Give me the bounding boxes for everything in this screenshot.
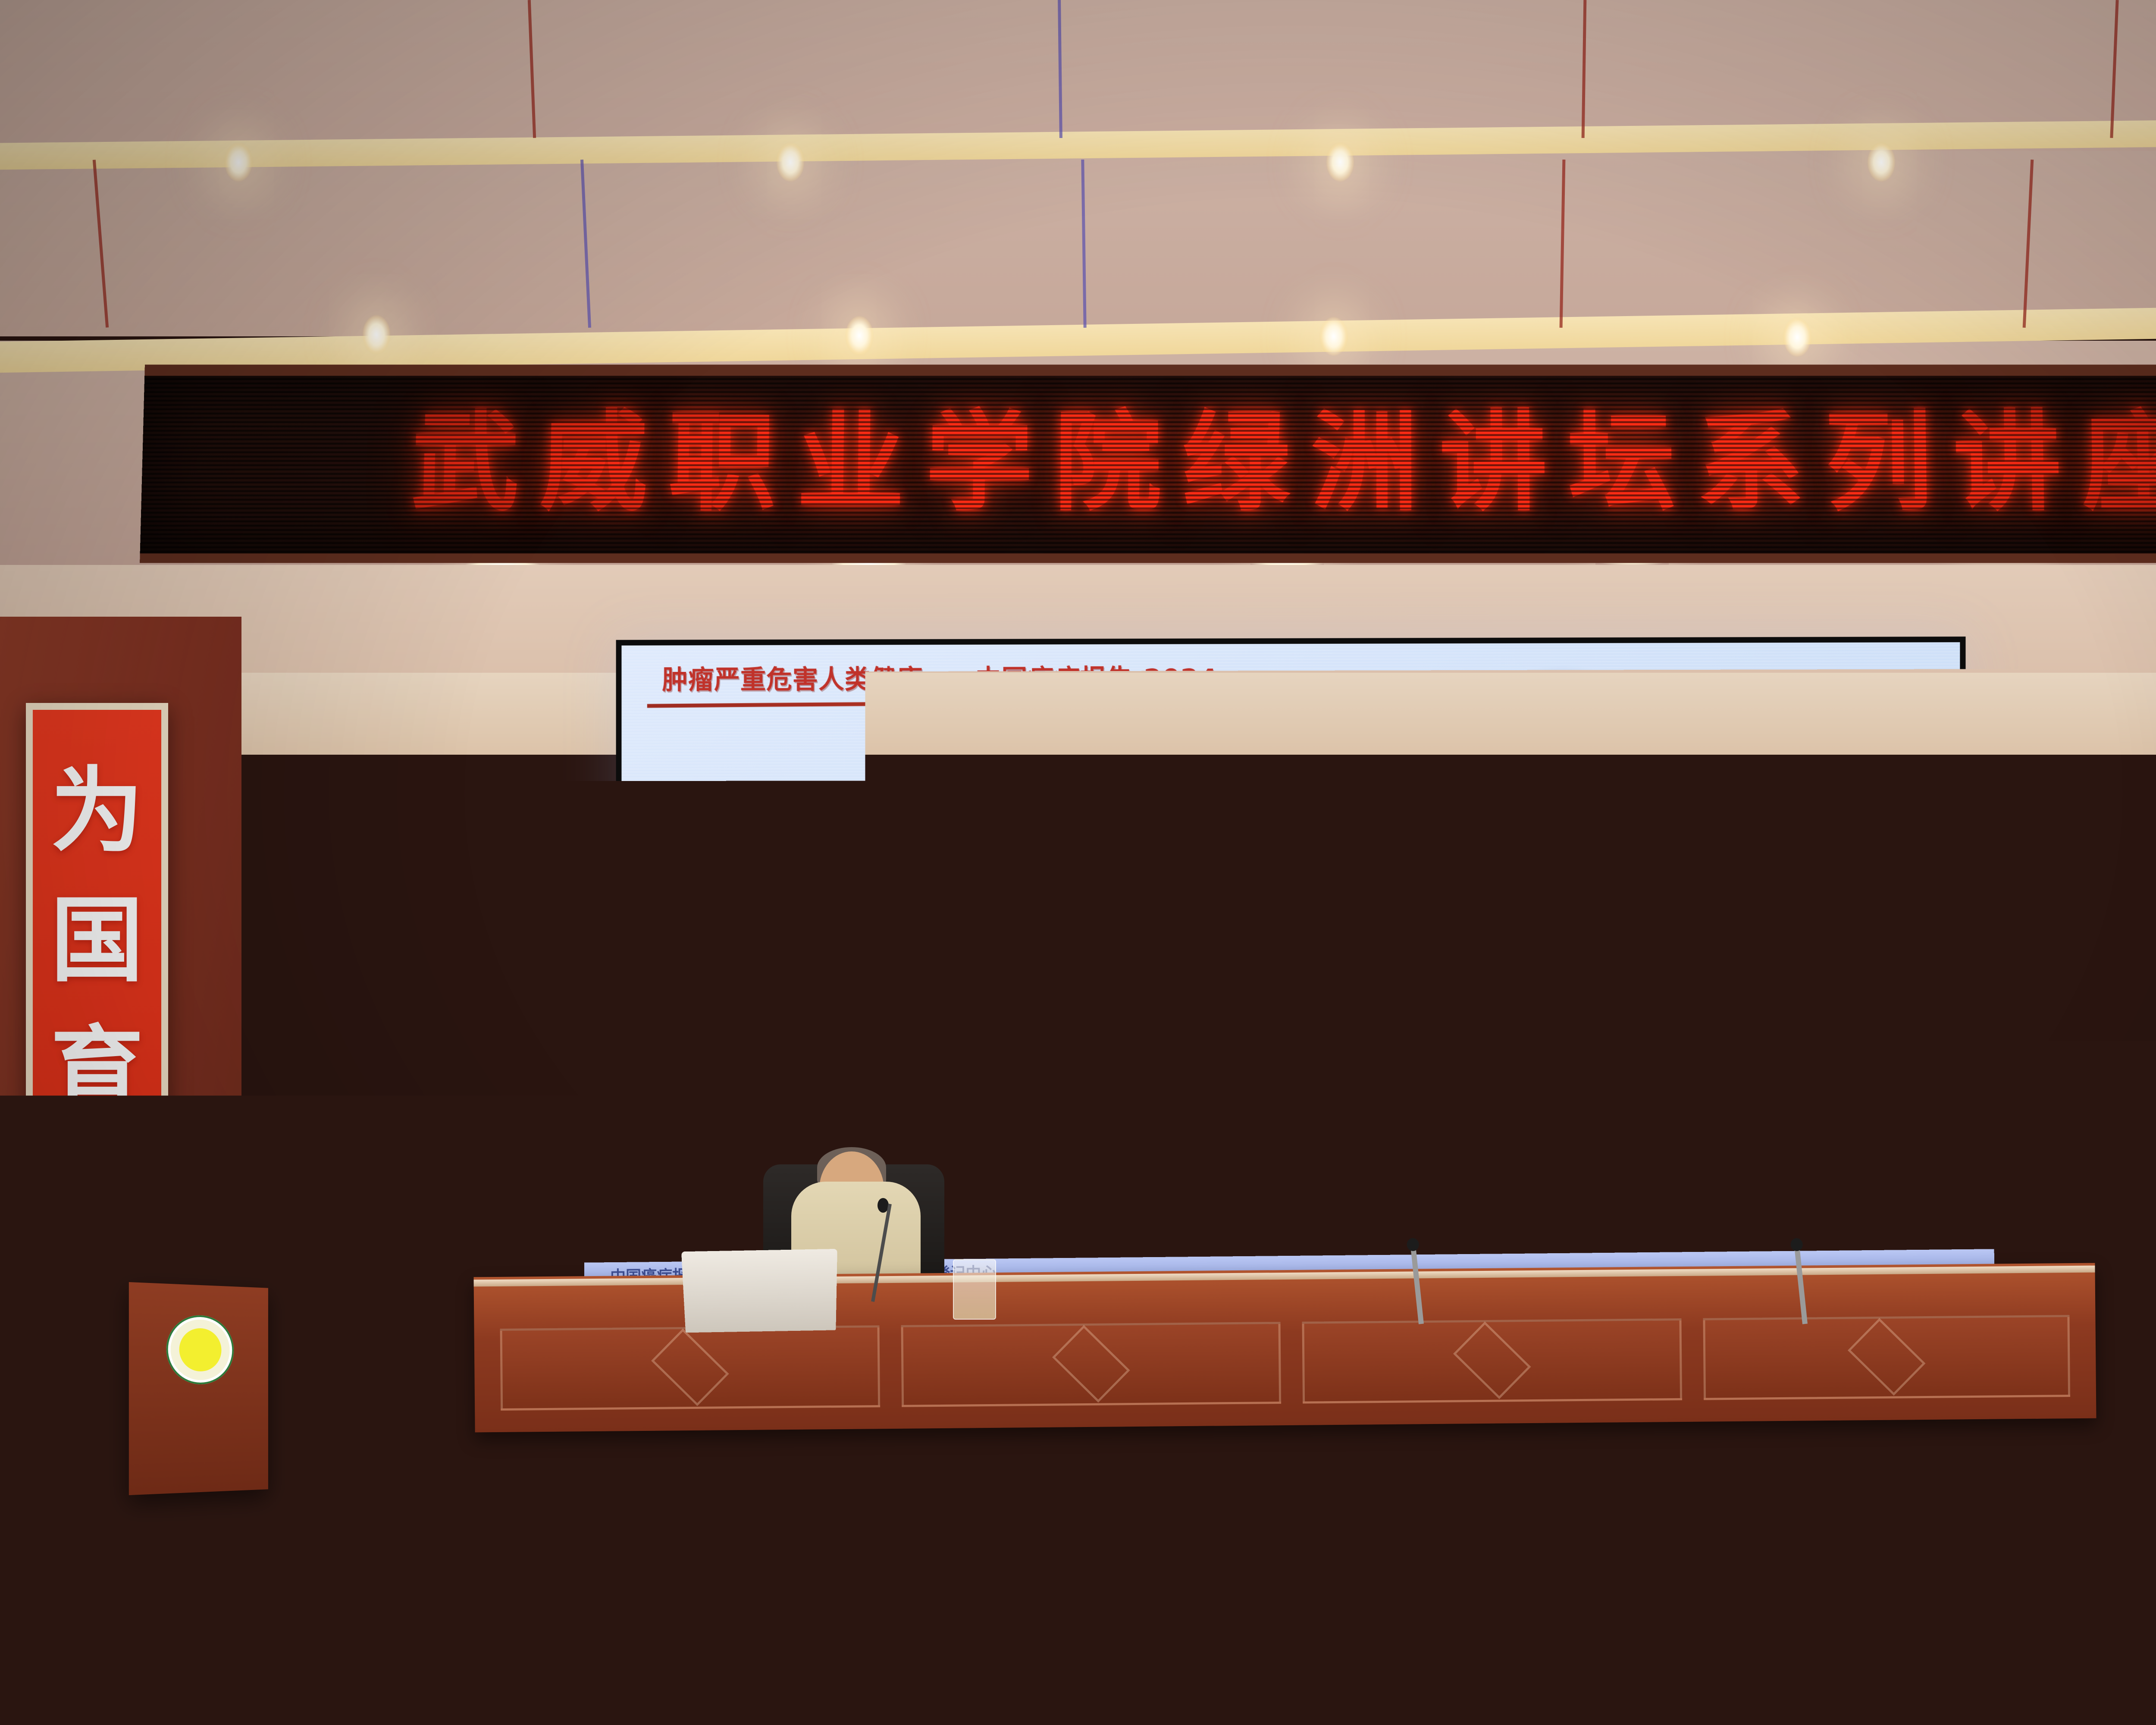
audience-head — [929, 1426, 975, 1504]
audience-head — [2011, 1402, 2049, 1450]
hospital-seal-icon — [1658, 1188, 1706, 1236]
pie-slice-value: 1 028 658 (5.3%) — [1731, 953, 1852, 970]
logo-cn-sub: 第 二 医 院 — [1792, 1190, 1855, 1203]
audience-head — [394, 1364, 429, 1407]
hospital-logo: 兰州大学 第 二 医 院 第二临床医学院 Lanzhou University … — [1658, 1184, 1948, 1240]
audience-head — [1711, 1403, 1752, 1450]
pie-slice-name: China — [1694, 708, 1824, 724]
bullet-marker-icon: ➤ — [1140, 1045, 1162, 1080]
bullet-item-cont: 癌症防控形势严峻； — [1140, 1080, 1927, 1117]
audience-head — [728, 1363, 761, 1407]
pie-slice-label: France 467 965 (2.4%) — [1238, 897, 1345, 930]
audience-head — [368, 1399, 405, 1450]
audience-head — [2040, 1431, 2085, 1504]
audience-head — [1616, 1433, 1661, 1504]
pie-slice-value: 592 212 (3.1%) — [1365, 1025, 1473, 1041]
bullet-text: 癌症防控形势严峻； — [1162, 1080, 1341, 1116]
audience-head — [1390, 1371, 1425, 1407]
pie-slice-name: India — [1749, 896, 1870, 912]
audience-head — [182, 1468, 235, 1566]
pie-slice-separators — [1441, 673, 1683, 1019]
audience-seat — [82, 1629, 187, 1703]
pie-slice-label: China 4 568 754 (23.7%) — [1694, 708, 1824, 741]
audience-head — [2088, 1390, 2130, 1450]
drinking-glass — [953, 1259, 996, 1320]
bullet-item-cont: 并推动抗癌创新药物及设备的发展，“预防+治疗”双管齐下， — [1140, 1151, 1927, 1187]
bullet-item: ➤ 我国恶性肿瘤负担日益加重，城乡差异较大，地区分布不均衡， — [1140, 1045, 1927, 1081]
audience-head — [265, 1370, 300, 1407]
audience-head — [1195, 1361, 1229, 1407]
bullet-text: 才能更好降低癌症负担，护卫人民健康。 — [1162, 1186, 1520, 1222]
audience-head — [944, 1587, 1021, 1722]
ceiling-downlight — [362, 315, 391, 354]
bullet-item: ➤ 癌症防治需纳入卫生计划，将有助降低我国未来的癌症负担， — [1140, 1116, 1927, 1152]
audience-head — [1014, 1439, 1060, 1504]
audience-head — [815, 1390, 852, 1450]
pie-slice-label: Russian Federation 591 371 (3.1%) — [1234, 937, 1369, 970]
pie-slice-name: Italy — [1225, 815, 1332, 832]
audience-head — [1495, 1402, 1531, 1450]
pie-slice-value: 6 936 010 (36%) — [1234, 770, 1349, 787]
pie-leader-line — [1681, 926, 1730, 947]
led-banner-text: 武威职业学院绿洲讲坛系列讲座 — [141, 398, 2156, 527]
pie-slice-name: Others — [1234, 754, 1349, 770]
audience-seating — [0, 1393, 2156, 1725]
ceiling-downlight — [224, 142, 253, 182]
scroll-char: 育 — [51, 1005, 144, 1135]
pie-slice-label: Germany 628 519 (3.3%) — [1627, 1006, 1735, 1039]
audience-seat — [1602, 1713, 1727, 1725]
rose-outside-label: 睾丸癌 0.35 — [797, 839, 837, 919]
audience-head — [860, 1367, 892, 1407]
audience-seat — [1712, 1629, 1817, 1703]
audience-head — [258, 1559, 325, 1722]
audience-head — [528, 1358, 563, 1407]
audience-seat — [1400, 1440, 1468, 1489]
red-scroll-banner-left: 为 国 育 才 — [26, 703, 168, 1302]
audience-head — [390, 1485, 441, 1566]
audience-head — [569, 1537, 626, 1639]
audience-seat — [1595, 1629, 1701, 1703]
audience-head — [1526, 1361, 1557, 1407]
pie-slice-label: India 1 324 413 (6.9%) — [1749, 896, 1870, 928]
audience-head — [1255, 1359, 1290, 1407]
pie-slice-name: Germany — [1627, 1006, 1735, 1022]
audience-seat — [548, 1629, 653, 1703]
audience-head — [285, 1399, 323, 1450]
audience-head — [766, 1432, 807, 1504]
pie-leader-line — [1350, 887, 1381, 944]
audience-seat — [1430, 1495, 1507, 1550]
rose-center-label: 发病数 — [821, 993, 893, 1019]
audience-head — [1216, 1609, 1290, 1722]
ceiling-downlight — [845, 316, 874, 355]
audience-head — [1570, 1474, 1622, 1566]
pie-slice-value: 1 324 413 (6.9%) — [1749, 913, 1870, 929]
scroll-char: 为 — [51, 746, 144, 876]
audience-seat — [94, 1713, 218, 1725]
audience-head — [1919, 1357, 1951, 1407]
pie-slice-value: 591 371 (3.1%) — [1234, 953, 1369, 970]
rose-center-value: 482.47万人 — [787, 1019, 927, 1049]
pie-slice-label: Others 6 936 010 (36%) — [1234, 754, 1349, 787]
audience-head — [666, 1608, 742, 1722]
audience-head — [90, 1490, 138, 1566]
audience-head — [921, 1367, 956, 1407]
audience-head — [1126, 1367, 1163, 1407]
pie-slice-value: 4 568 754 (23.7%) — [1694, 724, 1824, 741]
rose-outside-label: 喉癌 2.95 — [720, 892, 780, 950]
lecture-hall-photo: 武威职业学院绿洲讲坛系列讲座 为 国 育 才 为 党 育 人 肿瘤严重危害人类健… — [0, 0, 2156, 1725]
rose-chart-center: 发病数 482.47万人 — [777, 957, 936, 1085]
audience-head — [330, 1370, 364, 1407]
college-tree-icon — [185, 1334, 216, 1365]
scroll-char: 国 — [51, 876, 144, 1005]
pie-leader-line — [1711, 847, 1753, 860]
audience-head — [1119, 1406, 1155, 1450]
audience-seat — [1739, 1713, 1864, 1725]
audience-head — [1078, 1568, 1147, 1722]
ceiling-downlight — [1783, 317, 1811, 357]
ceiling-downlight — [1326, 142, 1354, 182]
audience-seat — [69, 1557, 159, 1621]
pie-leader-line — [1332, 816, 1376, 886]
pie-slice-name: Brazil — [1365, 1008, 1473, 1025]
audience-head — [1724, 1365, 1758, 1407]
audience-head — [398, 1603, 475, 1722]
rose-chart: 肺癌106.06 结直肠癌51.71 甲状腺癌46.61 肝癌36.77 胃癌3… — [647, 700, 1162, 1230]
country-pie-chart: China 4 568 754 (23.7%) United States of… — [1169, 659, 1944, 1050]
audience-head — [2054, 1368, 2088, 1407]
rose-outside-label: 子宫颈癌 15.07 — [986, 1059, 1087, 1111]
audience-head — [881, 1471, 932, 1566]
pie-leader-line — [1666, 718, 1695, 728]
pie-slice-value: 628 519 (3.3%) — [1627, 1022, 1735, 1039]
audience-head — [1898, 1595, 1972, 1722]
audience-head — [888, 1405, 923, 1450]
audience-head — [1457, 1363, 1493, 1407]
audience-head — [1151, 1524, 1214, 1639]
pie-slice-label: Italy 415 269 (2.2%) — [1225, 815, 1332, 848]
pie-slice-label: Japan 1 028 658 (5.3%) — [1731, 937, 1852, 970]
audience-head — [258, 1442, 299, 1504]
audience-seat — [505, 1713, 630, 1725]
audience-head — [1568, 1388, 1605, 1450]
pie-slice-label: United Kingdom 457 960 (2.4%) — [1212, 857, 1326, 890]
audience-head — [811, 1565, 887, 1722]
audience-head — [1323, 1358, 1360, 1407]
audience-seat — [1465, 1713, 1589, 1725]
pie-slice-name: France — [1238, 897, 1345, 914]
audience-head — [61, 1391, 100, 1450]
audience-head — [1501, 1532, 1565, 1639]
audience-head — [2048, 1593, 2118, 1722]
led-banner: 武威职业学院绿洲讲坛系列讲座 — [140, 365, 2156, 563]
audience-seat — [2151, 1713, 2156, 1725]
audience-head — [461, 1372, 498, 1407]
pie-slice-value: 2 281 658 (11.8%) — [1755, 867, 1933, 883]
pie-slice-name: Japan — [1731, 937, 1852, 953]
audience-seat — [1479, 1629, 1584, 1703]
audience-head — [335, 1518, 397, 1639]
pie-slice-label: Brazil 592 212 (3.1%) — [1365, 1008, 1473, 1041]
audience-head — [1353, 1602, 1424, 1722]
pie-slice-name: United States of America — [1755, 850, 1933, 867]
ceiling-downlight — [1867, 142, 1896, 182]
audience-head — [138, 1393, 177, 1450]
pie-slice-name: Russian Federation — [1234, 937, 1369, 953]
audience-head — [1362, 1430, 1409, 1504]
logo-en-line: Lanzhou University Second Hospital — [1712, 1226, 1948, 1239]
audience-head — [966, 1388, 1002, 1450]
pie-slice-value: 415 269 (2.2%) — [1225, 832, 1332, 848]
pie-slice-label: United States of America 2 281 658 (11.8… — [1755, 850, 1933, 884]
audience-head — [1654, 1369, 1686, 1407]
logo-cn-main: 兰州大学 — [1712, 1183, 1785, 1205]
audience-seat — [2152, 1557, 2156, 1621]
pie-slice-value: 467 965 (2.4%) — [1238, 914, 1345, 930]
ceiling-tier-2 — [0, 151, 2156, 336]
laptop — [681, 1249, 837, 1333]
slide-title: 肿瘤严重危害人类健康——中国癌症报告-2024 — [662, 658, 1217, 696]
bullet-text: 癌症防治需纳入卫生计划，将有助降低我国未来的癌症负担， — [1162, 1116, 1699, 1152]
ceiling-downlight — [776, 142, 805, 182]
audience-head — [1731, 1537, 1793, 1639]
logo-cn-line3: 第二临床医学院 — [1712, 1207, 1948, 1227]
bullet-text: 我国恶性肿瘤负担日益加重，城乡差异较大，地区分布不均衡， — [1162, 1045, 1719, 1081]
pie-slice-name: United Kingdom — [1212, 857, 1326, 874]
ceiling-downlight — [1319, 317, 1348, 356]
audience-head — [292, 1467, 340, 1566]
rose-outside-label: 鼻咽癌 5.10 — [663, 971, 742, 1006]
audience-head — [1626, 1538, 1683, 1639]
audience-head — [1970, 1529, 2026, 1639]
scroll-char: 才 — [51, 1135, 144, 1264]
bullet-marker-icon: ➤ — [1140, 1116, 1162, 1151]
pie-leader-line — [1471, 1019, 1509, 1029]
pie-slice-value: 457 960 (2.4%) — [1212, 874, 1326, 890]
bullet-text: 并推动抗癌创新药物及设备的发展，“预防+治疗”双管齐下， — [1162, 1151, 1696, 1187]
logo-cn-line1: 兰州大学 第 二 医 院 — [1712, 1184, 1948, 1207]
pie-leader-line — [1341, 769, 1443, 791]
pie-leader-line — [1705, 892, 1746, 906]
audience-head — [193, 1373, 227, 1407]
audience-head — [663, 1387, 705, 1450]
audience-head — [1673, 1465, 1728, 1566]
audience-head — [1848, 1514, 1907, 1639]
